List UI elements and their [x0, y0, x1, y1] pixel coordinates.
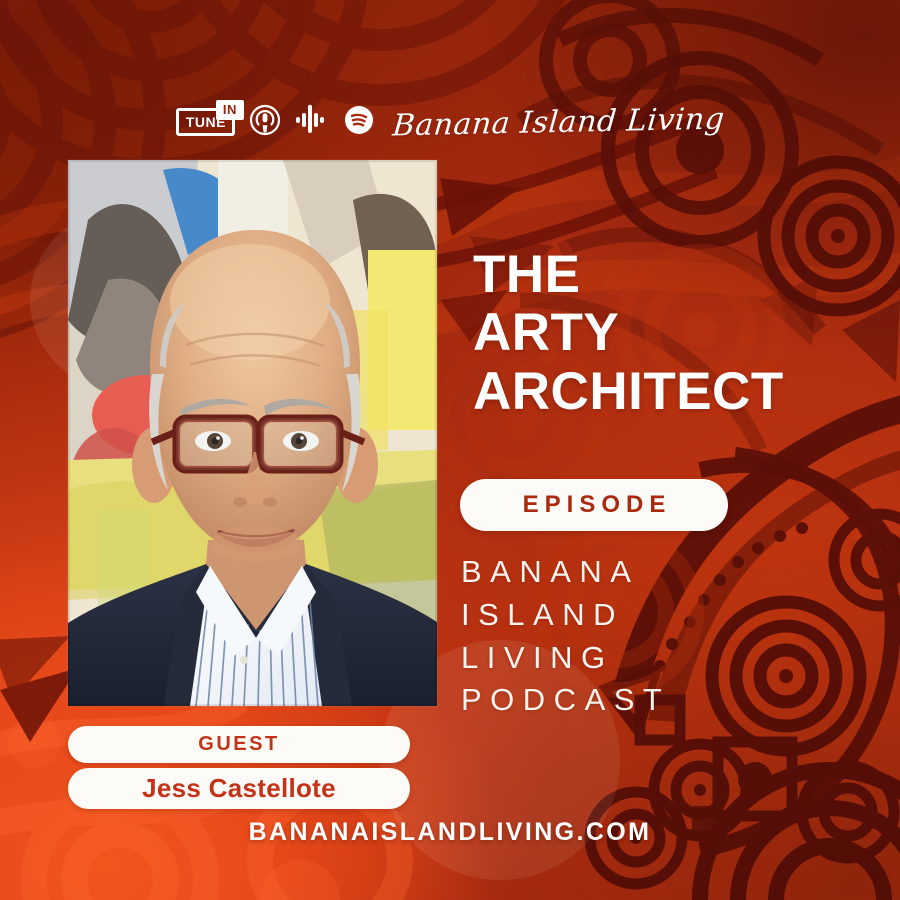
- guest-photo: [68, 160, 437, 706]
- platform-bar: TUNE IN: [0, 101, 900, 143]
- guest-name-pill: Jess Castellote: [68, 768, 410, 809]
- episode-badge: EPISODE: [460, 479, 728, 531]
- guest-name-label: Jess Castellote: [142, 773, 336, 804]
- title-line-2: ARTY: [473, 304, 873, 362]
- tunein-in-label: IN: [216, 100, 244, 120]
- show-name-block: BANANA ISLAND LIVING PODCAST: [461, 551, 670, 722]
- guest-role-pill: GUEST: [68, 726, 410, 763]
- guest-role-label: GUEST: [198, 733, 279, 756]
- show-name-line-2: ISLAND: [461, 594, 670, 637]
- website-url[interactable]: BANANAISLANDLIVING.COM: [0, 818, 900, 847]
- show-name-line-3: LIVING: [461, 637, 670, 680]
- spotify-icon[interactable]: [343, 104, 375, 141]
- show-name-line-1: BANANA: [461, 551, 670, 594]
- tunein-icon[interactable]: TUNE IN: [176, 108, 235, 136]
- title-line-1: THE: [473, 246, 873, 304]
- show-name-line-4: PODCAST: [461, 679, 670, 722]
- show-name-script: Banana Island Living: [391, 101, 726, 143]
- episode-badge-label: EPISODE: [517, 491, 672, 519]
- apple-podcasts-icon[interactable]: [249, 104, 281, 141]
- podcast-cover-art: TUNE IN: [0, 0, 900, 900]
- episode-title: THE ARTY ARCHITECT: [473, 246, 873, 421]
- google-podcasts-icon[interactable]: [295, 104, 329, 141]
- title-line-3: ARCHITECT: [473, 363, 873, 421]
